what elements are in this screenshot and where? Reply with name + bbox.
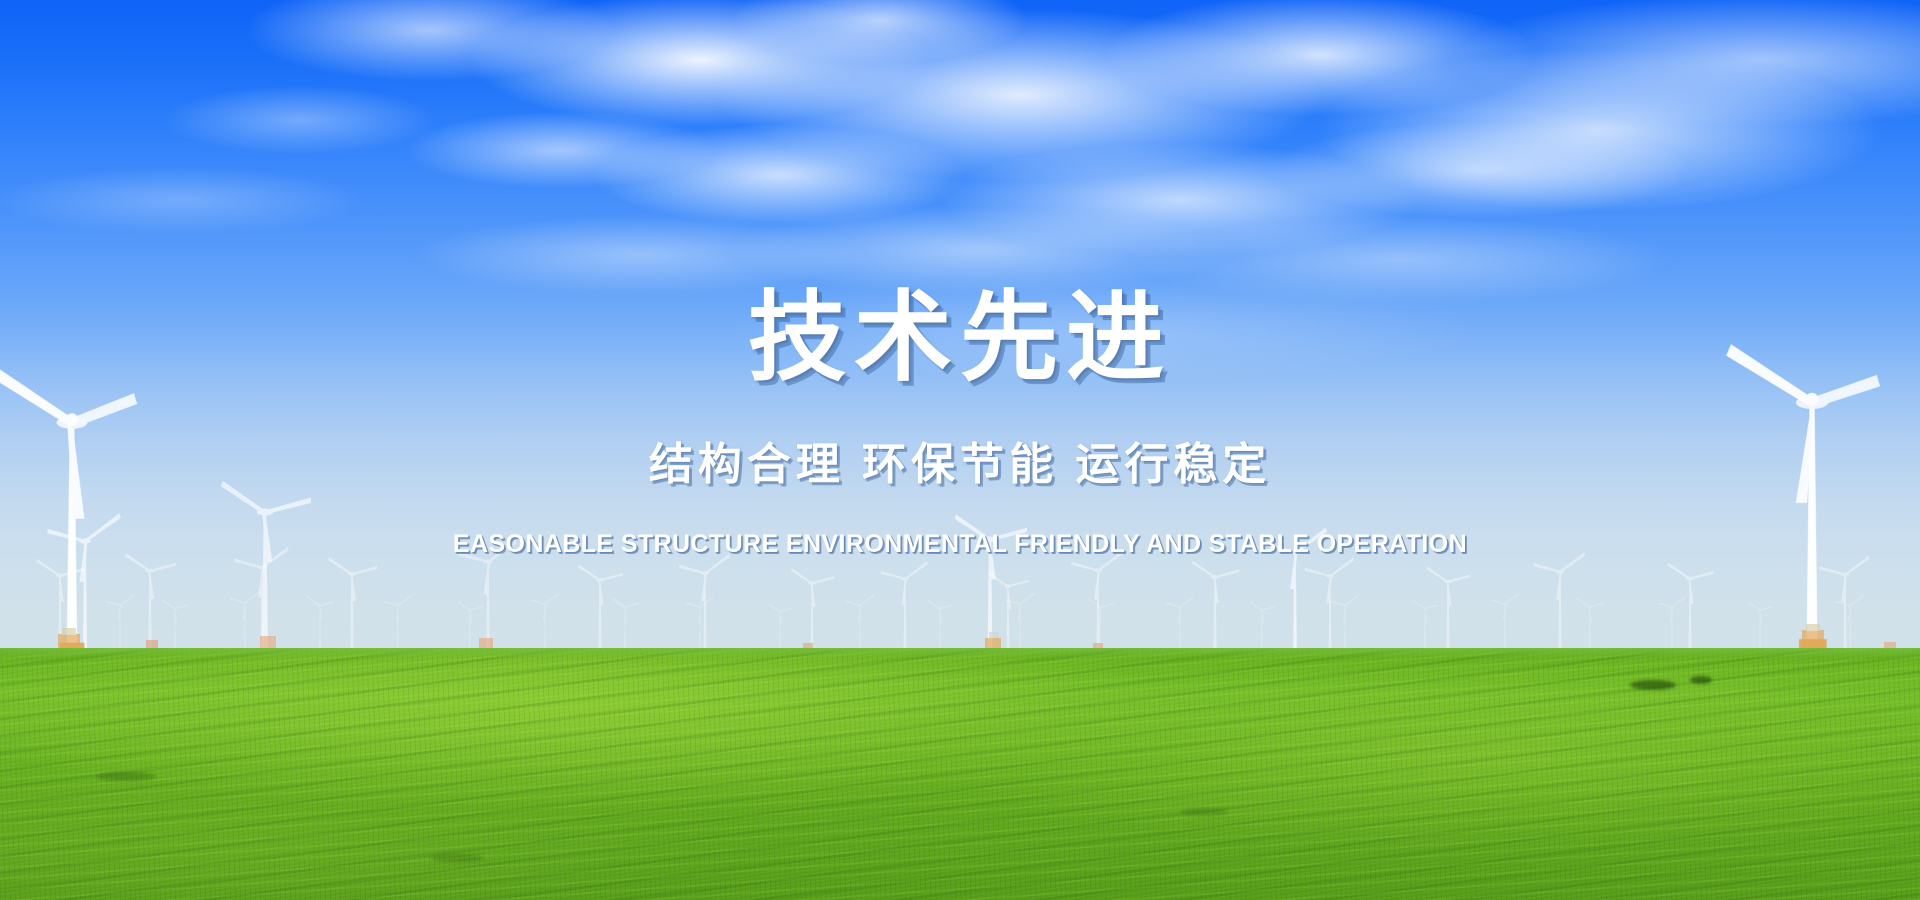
- sky-background: [0, 0, 1920, 652]
- grass-patch: [1690, 676, 1712, 684]
- grass-patch: [1180, 808, 1228, 816]
- grass-patch: [430, 854, 484, 862]
- grass-horizon-rim: [0, 648, 1920, 658]
- grass-patch: [1630, 680, 1676, 690]
- hero-banner: 技术先进 结构合理 环保节能 运行稳定 EASONABLE STRUCTURE …: [0, 0, 1920, 900]
- grass-patch: [96, 772, 156, 781]
- grass-field-icon: [0, 648, 1920, 900]
